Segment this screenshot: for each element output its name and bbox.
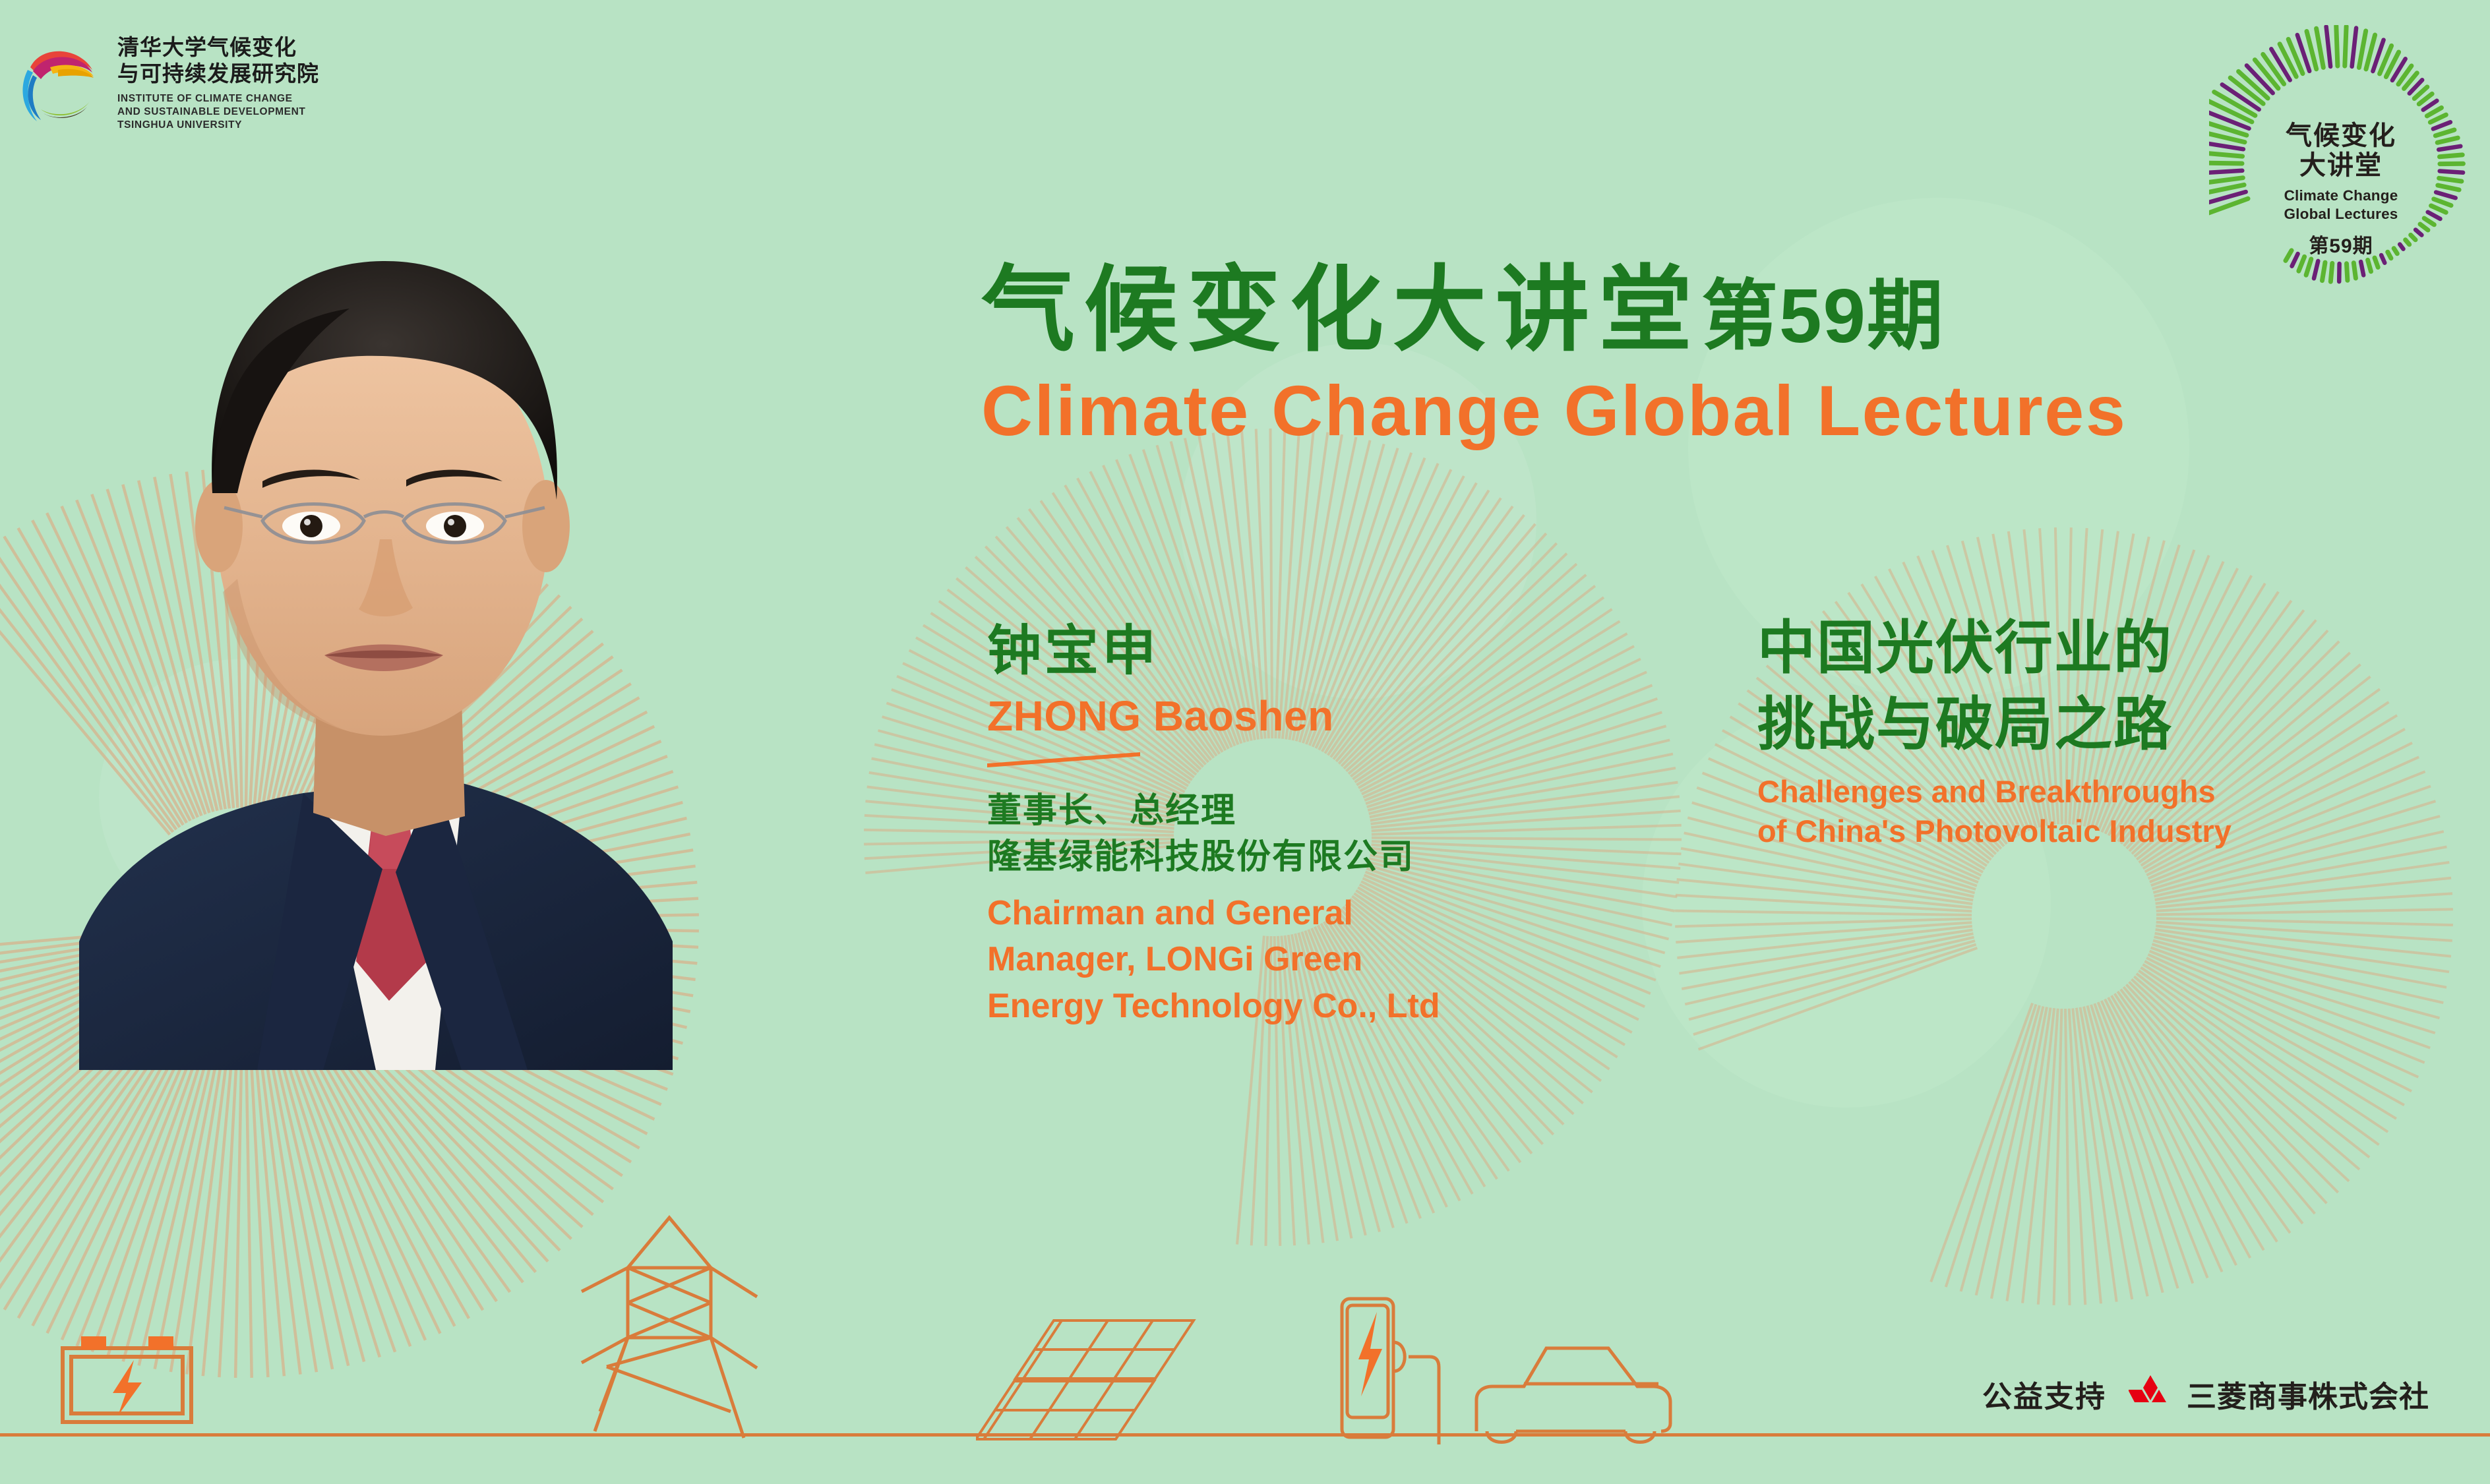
- institute-logo: 清华大学气候变化 与可持续发展研究院 INSTITUTE OF CLIMATE …: [18, 34, 319, 133]
- institute-name-cn-line1: 清华大学气候变化: [117, 34, 319, 61]
- badge-title-en-line1: Climate Change: [2209, 187, 2473, 204]
- lecture-topic-block: 中国光伏行业的 挑战与破局之路 Challenges and Breakthro…: [1757, 610, 2456, 850]
- institute-name-cn-line2: 与可持续发展研究院: [117, 61, 319, 87]
- speaker-divider: [987, 752, 1140, 767]
- institute-name-en-line3: TSINGHUA UNIVERSITY: [117, 119, 319, 132]
- speaker-title-en-line1: Chairman and General: [987, 890, 1647, 937]
- speaker-title-cn-line1: 董事长、总经理: [987, 788, 1647, 835]
- speaker-name-en: ZHONG Baoshen: [987, 693, 1647, 739]
- transmission-tower-icon: [580, 1214, 758, 1444]
- sponsor-company: 三菱商事株式会社: [2129, 1373, 2429, 1415]
- lecture-series-badge: 气候变化 大讲堂 Climate Change Global Lectures …: [2209, 25, 2473, 302]
- electric-car-icon: [1467, 1339, 1678, 1444]
- speaker-title-cn-line2: 隆基绿能科技股份有限公司: [987, 835, 1647, 881]
- poster-canvas: 清华大学气候变化 与可持续发展研究院 INSTITUTE OF CLIMATE …: [0, 0, 2490, 1484]
- sponsor-label: 公益支持: [1982, 1373, 2106, 1415]
- institute-name-en-line1: INSTITUTE OF CLIMATE CHANGE: [117, 92, 319, 105]
- badge-issue-number: 第59期: [2209, 229, 2473, 258]
- topic-cn-line2: 挑战与破局之路: [1757, 686, 2456, 763]
- battery-icon: [49, 1326, 204, 1444]
- badge-title-cn-line1: 气候变化: [2209, 121, 2473, 150]
- topic-cn-line1: 中国光伏行业的: [1757, 610, 2456, 686]
- speaker-title-en-line3: Energy Technology Co., Ltd: [987, 983, 1647, 1030]
- institute-name-en-line2: AND SUSTAINABLE DEVELOPMENT: [117, 105, 319, 119]
- speaker-title-en-line2: Manager, LONGi Green: [987, 936, 1647, 983]
- sponsor-block: 公益支持 三菱商事株式会社: [1982, 1373, 2429, 1415]
- bottom-icon-strip: [0, 1141, 2490, 1484]
- headline-cn: 气候变化大讲堂 第59期: [981, 264, 2399, 357]
- tsinghua-iccsd-logo-icon: [18, 41, 103, 125]
- headline-en: Climate Change Global Lectures: [981, 372, 2399, 450]
- speaker-info-block: 钟宝申 ZHONG Baoshen 董事长、总经理 隆基绿能科技股份有限公司 C…: [987, 624, 1647, 1030]
- topic-en-line1: Challenges and Breakthroughs: [1757, 772, 2456, 811]
- ev-charger-icon: [1325, 1296, 1441, 1444]
- headline-block: 气候变化大讲堂 第59期 Climate Change Global Lectu…: [981, 264, 2399, 450]
- speaker-name-cn: 钟宝申: [987, 624, 1647, 678]
- speaker-portrait: [40, 183, 821, 1070]
- solar-panel-icon: [976, 1319, 1292, 1444]
- headline-cn-issue: 第59期: [1701, 278, 1945, 354]
- badge-title-cn-line2: 大讲堂: [2209, 150, 2473, 181]
- mitsubishi-three-diamonds-icon: [2129, 1375, 2172, 1413]
- badge-title-en-line2: Global Lectures: [2209, 205, 2473, 223]
- topic-en-line2: of China's Photovoltaic Industry: [1757, 812, 2456, 850]
- badge-text: 气候变化 大讲堂 Climate Change Global Lectures …: [2209, 121, 2473, 258]
- headline-cn-main: 气候变化大讲堂: [981, 264, 1701, 357]
- institute-logo-text: 清华大学气候变化 与可持续发展研究院 INSTITUTE OF CLIMATE …: [117, 34, 319, 133]
- sponsor-company-name: 三菱商事株式会社: [2187, 1373, 2429, 1415]
